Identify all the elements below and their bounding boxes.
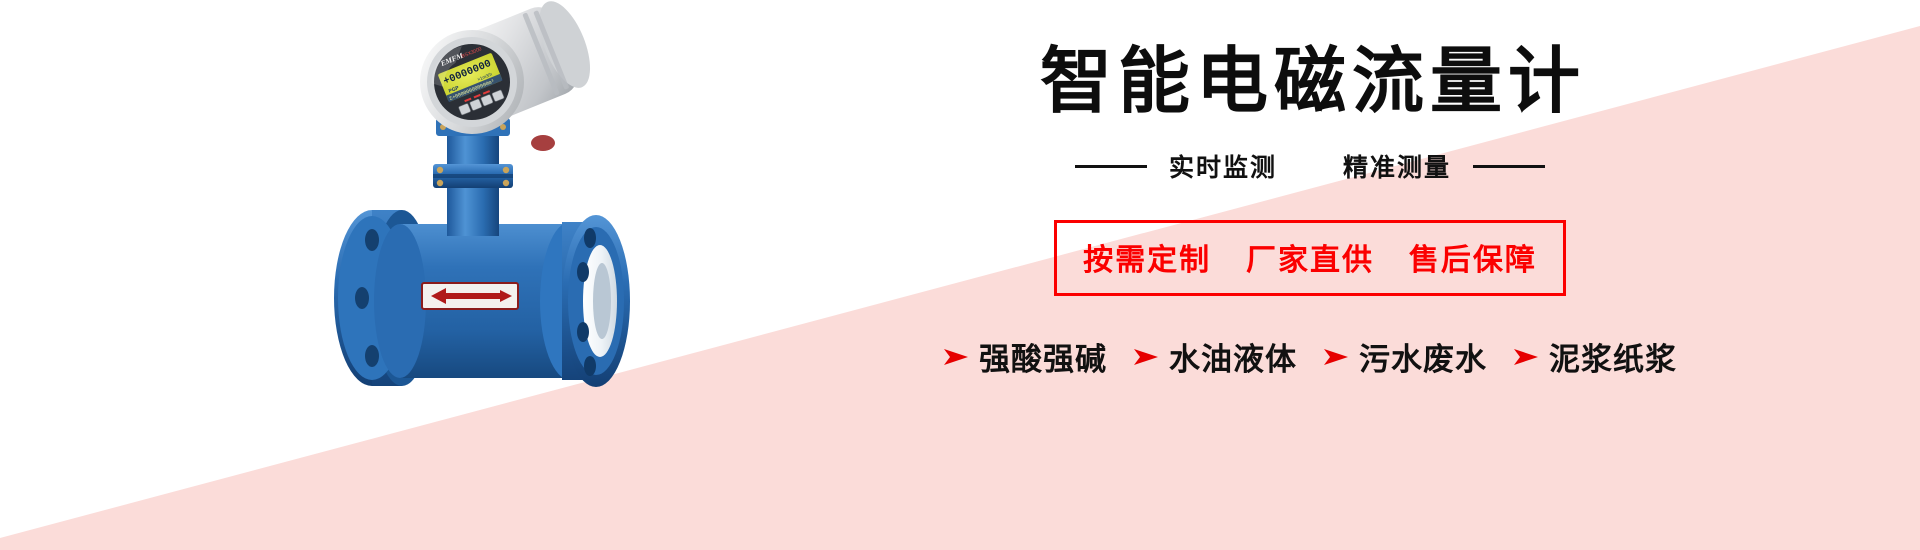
- triangle-right-icon: [1133, 347, 1159, 367]
- banner-content: 智能电磁流量计 实时监测 精准测量 按需定制 厂家直供 售后保障 强酸强碱: [700, 0, 1920, 550]
- triangle-right-icon: [1513, 347, 1539, 367]
- feature-item: 污水废水: [1323, 334, 1487, 379]
- promo-item-3: 售后保障: [1409, 244, 1537, 277]
- product-banner: +0000000 PGP ×1m3/h Σ+000000000000m³ EMF…: [0, 0, 1920, 550]
- subtitle-text-part2: 精准测量: [1343, 148, 1451, 184]
- promo-item-2: 厂家直供: [1246, 244, 1374, 277]
- neck-flange-collar: [433, 164, 513, 188]
- subtitle-row: 实时监测 精准测量: [1075, 148, 1545, 184]
- feature-label: 污水废水: [1359, 334, 1487, 379]
- feature-list: 强酸强碱 水油液体 污水废水 泥浆纸浆: [943, 334, 1677, 379]
- subtitle-text-part1: 实时监测: [1169, 148, 1277, 184]
- triangle-right-icon: [943, 347, 969, 367]
- flow-direction-label: [422, 283, 518, 309]
- right-flange: [562, 215, 630, 387]
- feature-label: 泥浆纸浆: [1549, 334, 1677, 379]
- feature-label: 强酸强碱: [979, 334, 1107, 379]
- terminal-cap: [531, 135, 555, 151]
- feature-item: 泥浆纸浆: [1513, 334, 1677, 379]
- promo-item-1: 按需定制: [1083, 244, 1211, 277]
- flowmeter-body: [334, 210, 630, 387]
- feature-item: 强酸强碱: [943, 334, 1107, 379]
- feature-item: 水油液体: [1133, 334, 1297, 379]
- page-title: 智能电磁流量计: [1034, 46, 1586, 118]
- promo-badge-box: 按需定制 厂家直供 售后保障: [1054, 220, 1566, 296]
- feature-label: 水油液体: [1169, 334, 1297, 379]
- subtitle-left-rule: [1075, 165, 1147, 168]
- converter-neck: [433, 118, 513, 236]
- subtitle-right-rule: [1473, 165, 1545, 168]
- triangle-right-icon: [1323, 347, 1349, 367]
